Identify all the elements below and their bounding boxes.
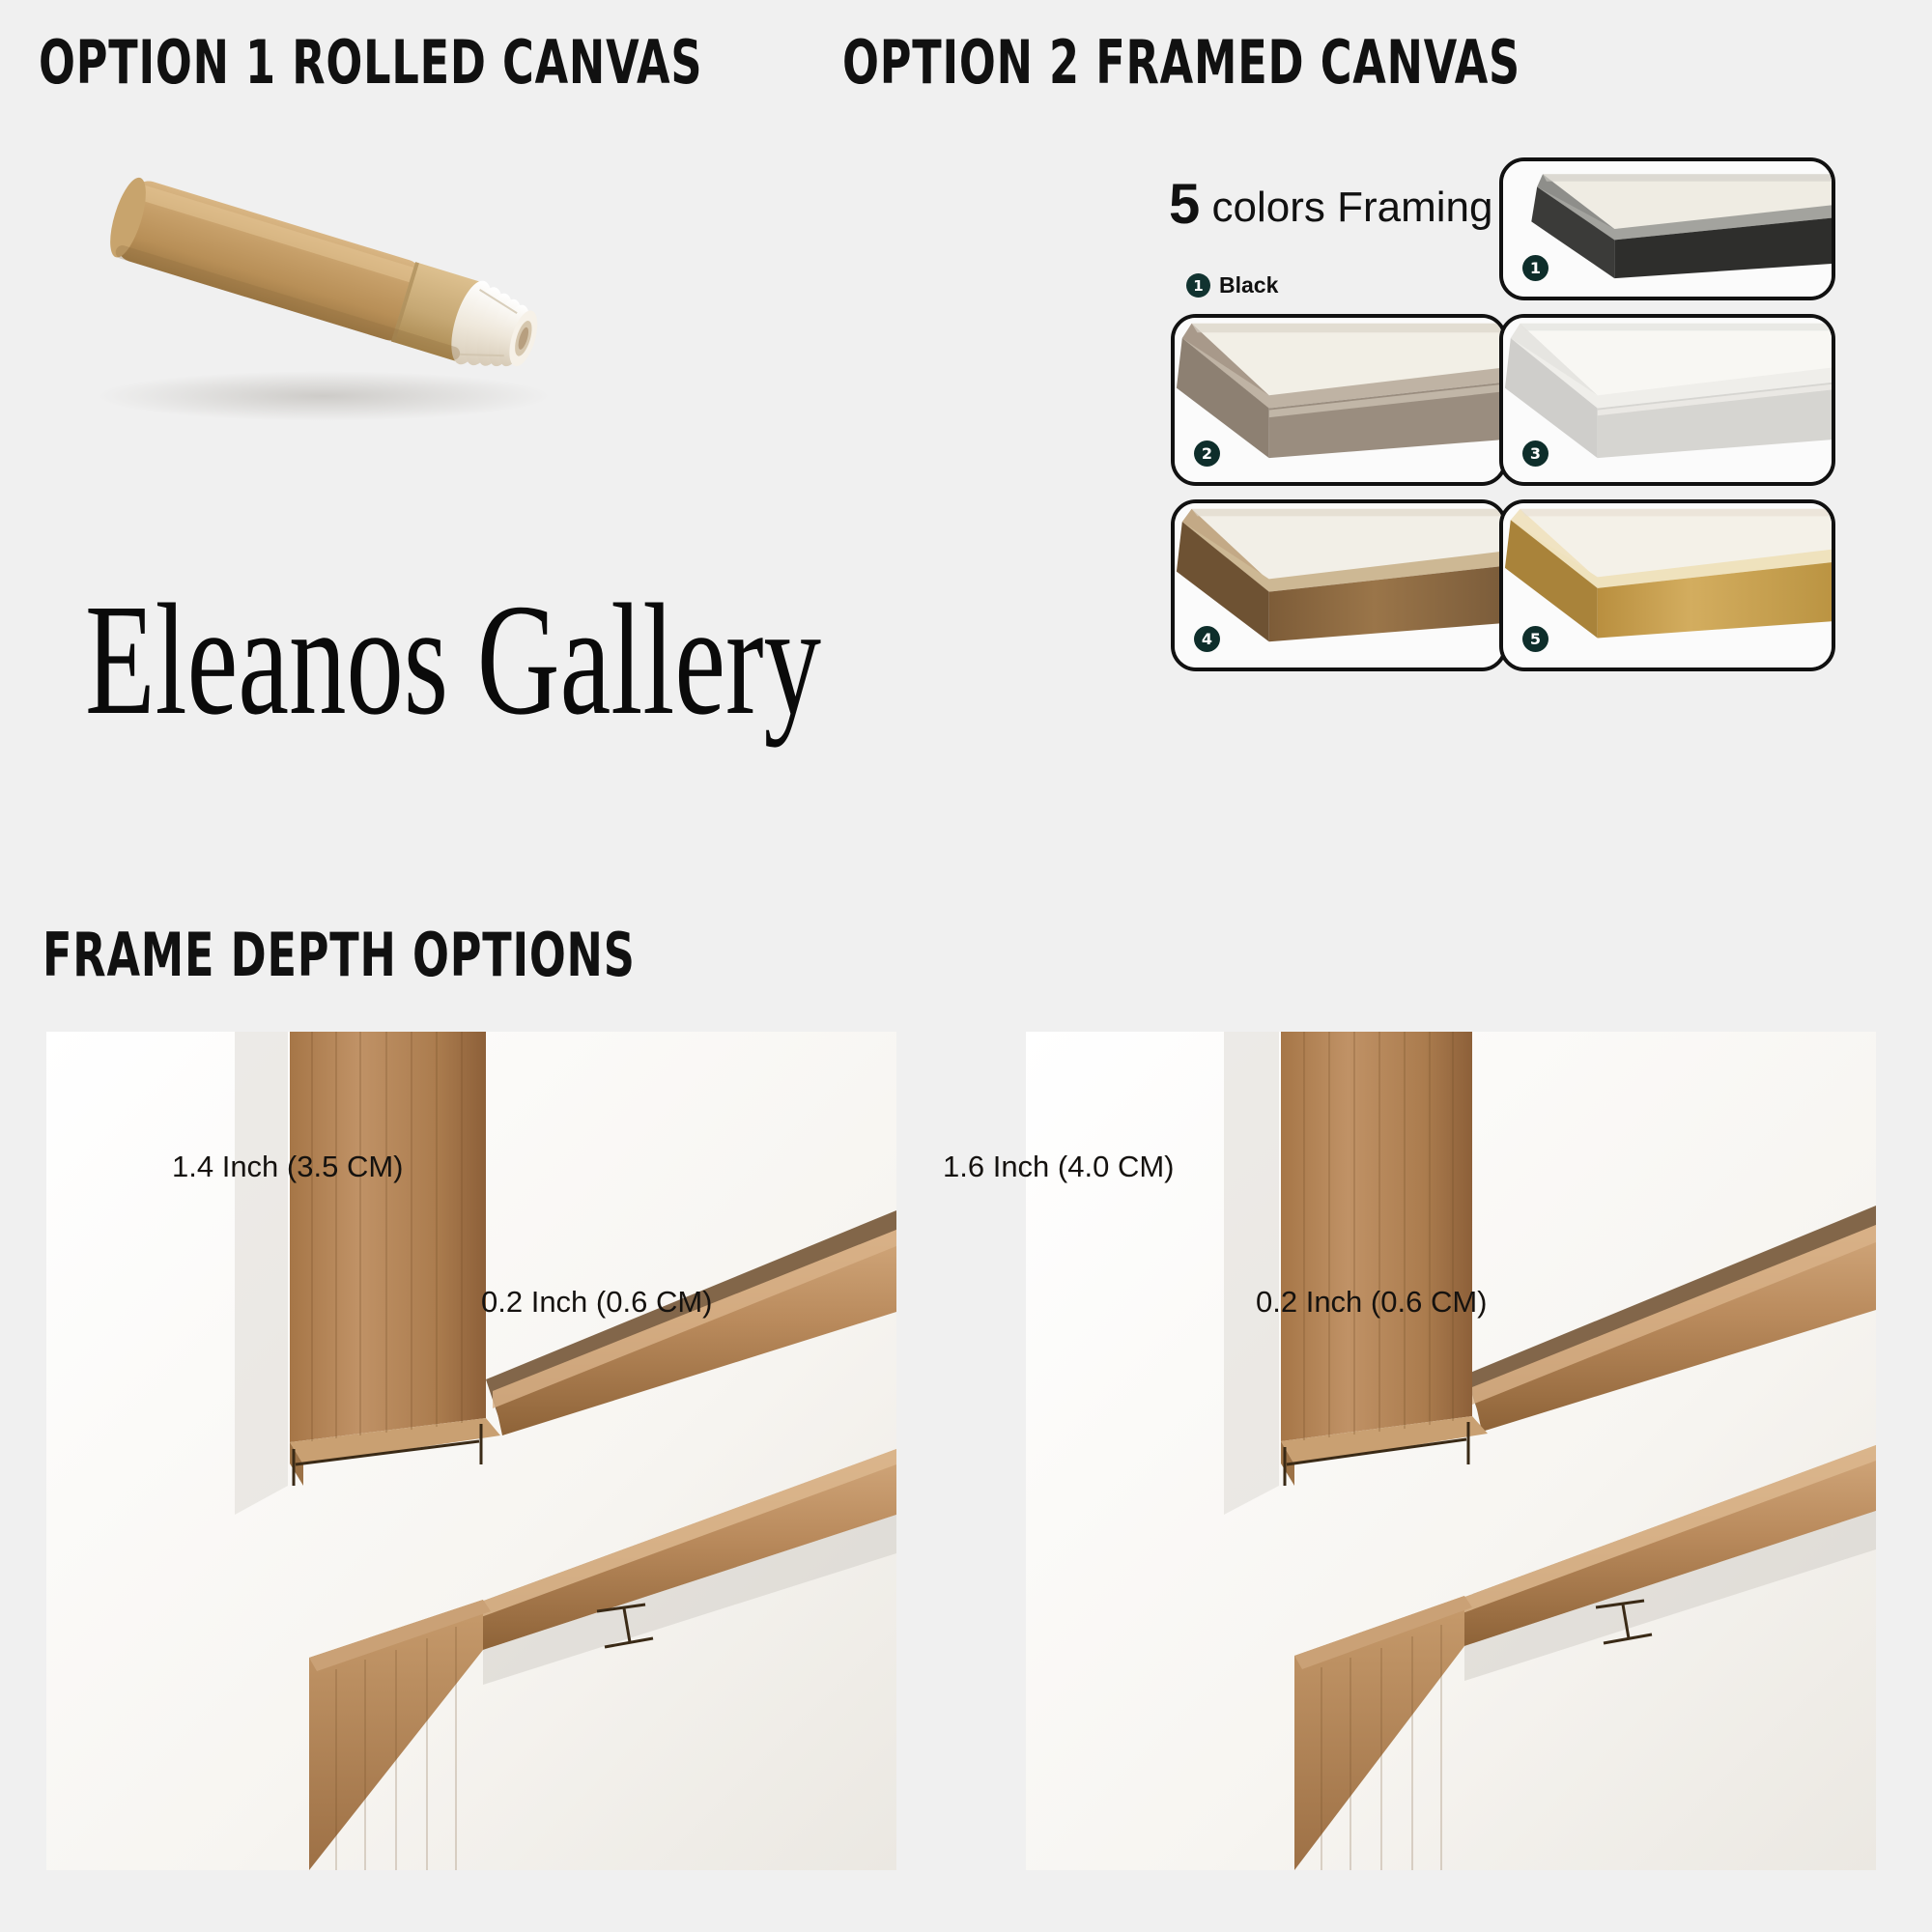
- brand-logo: Eleanos Gallery: [85, 580, 821, 739]
- legend-row: 1 Black: [1186, 272, 1414, 298]
- depth-label-right-main: 1.6 Inch (4.0 CM): [943, 1150, 1174, 1184]
- legend-item-black[interactable]: 1 Black: [1186, 272, 1300, 298]
- panel-badge-2: 2: [1194, 440, 1220, 467]
- legend-label-black: Black: [1219, 272, 1278, 298]
- heading-frame-depth: FRAME DEPTH OPTIONS: [43, 920, 636, 990]
- wood-frame-corner-photo: [1175, 503, 1503, 668]
- depth-label-left-main: 1.4 Inch (3.5 CM): [172, 1150, 403, 1184]
- panel-badge-5: 5: [1522, 626, 1548, 652]
- colors-framing-title: 5 colors Framing: [1169, 172, 1492, 237]
- frame-swatch-panel-gold[interactable]: 5: [1499, 499, 1835, 671]
- rolled-canvas-tube-image: [72, 155, 594, 444]
- gold-frame-corner-photo: [1503, 503, 1832, 668]
- colors-title-text: colors Framing: [1200, 184, 1492, 231]
- frame-swatch-panel-silver[interactable]: 2: [1171, 314, 1507, 486]
- frame-swatch-panel-wood[interactable]: 4: [1171, 499, 1507, 671]
- white-frame-corner-photo: [1503, 318, 1832, 482]
- depth-label-right-edge: 0.2 Inch (0.6 CM): [1256, 1285, 1487, 1320]
- black-frame-corner-photo: [1503, 161, 1832, 297]
- frame-swatch-panel-black[interactable]: 1: [1499, 157, 1835, 300]
- frame-swatch-panel-white[interactable]: 3: [1499, 314, 1835, 486]
- panel-badge-1: 1: [1522, 255, 1548, 281]
- depth-label-left-edge: 0.2 Inch (0.6 CM): [481, 1285, 712, 1320]
- silver-frame-corner-photo: [1175, 318, 1503, 482]
- heading-option-2: OPTION 2 FRAMED CANVAS: [842, 27, 1520, 98]
- panel-badge-4: 4: [1194, 626, 1220, 652]
- panel-badge-3: 3: [1522, 440, 1548, 467]
- colors-count: 5: [1169, 173, 1200, 236]
- badge-number-1: 1: [1186, 273, 1210, 298]
- heading-option-1: OPTION 1 ROLLED CANVAS: [39, 27, 702, 98]
